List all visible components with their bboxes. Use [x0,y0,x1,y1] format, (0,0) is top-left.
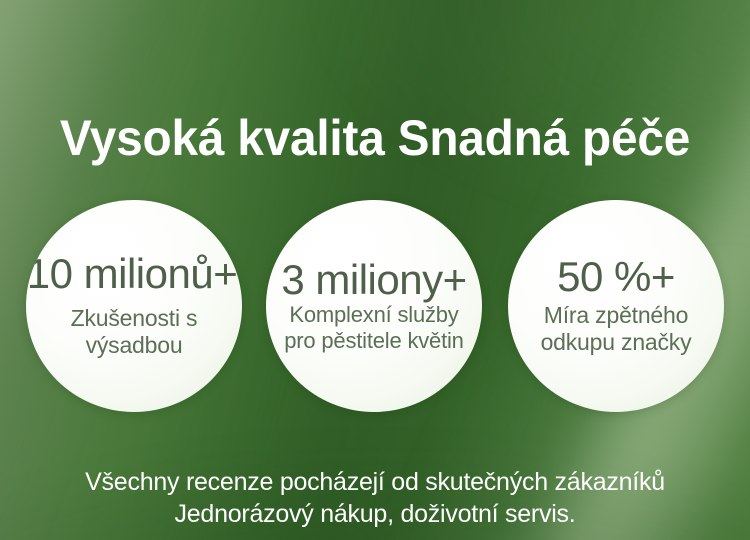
promo-banner: Vysoká kvalita Snadná péče 10 milionů+ Z… [0,0,750,540]
stat-circle-grower-services: 3 miliony+ Komplexní služby pro pěstitel… [266,200,482,412]
stat-circle-planting-experience: 10 milionů+ Zkušenosti s výsadbou [26,200,242,412]
stat-label: Míra zpětného odkupu značky [508,302,724,356]
stat-label-line: pěstitele květin [321,328,463,353]
stats-row: 10 milionů+ Zkušenosti s výsadbou 3 mili… [0,200,750,412]
headline: Vysoká kvalita Snadná péče [17,112,733,165]
stat-label: Komplexní služby pro pěstitele květin [266,302,482,352]
stat-label: Zkušenosti s výsadbou [26,305,242,359]
banner-content: Vysoká kvalita Snadná péče 10 milionů+ Z… [0,0,750,540]
stat-label-line: Zkušenosti s [71,305,198,331]
stat-label-line: Komplexní [289,302,391,327]
stat-number: 3 miliony+ [281,259,466,301]
footnote-line: Jednorázový nákup, doživotní servis. [0,498,750,530]
stat-number: 50 %+ [557,256,675,298]
footnote-line: Všechny recenze pocházejí od skutečných … [0,466,750,498]
stat-circle-repurchase-rate: 50 %+ Míra zpětného odkupu značky [508,200,724,412]
stat-label-line: odkupu značky [541,329,692,355]
footnote: Všechny recenze pocházejí od skutečných … [0,466,750,530]
stat-label-line: Míra zpětného [544,302,688,328]
stat-number: 10 milionů+ [27,253,237,295]
stat-label-line: výsadbou [86,332,183,358]
